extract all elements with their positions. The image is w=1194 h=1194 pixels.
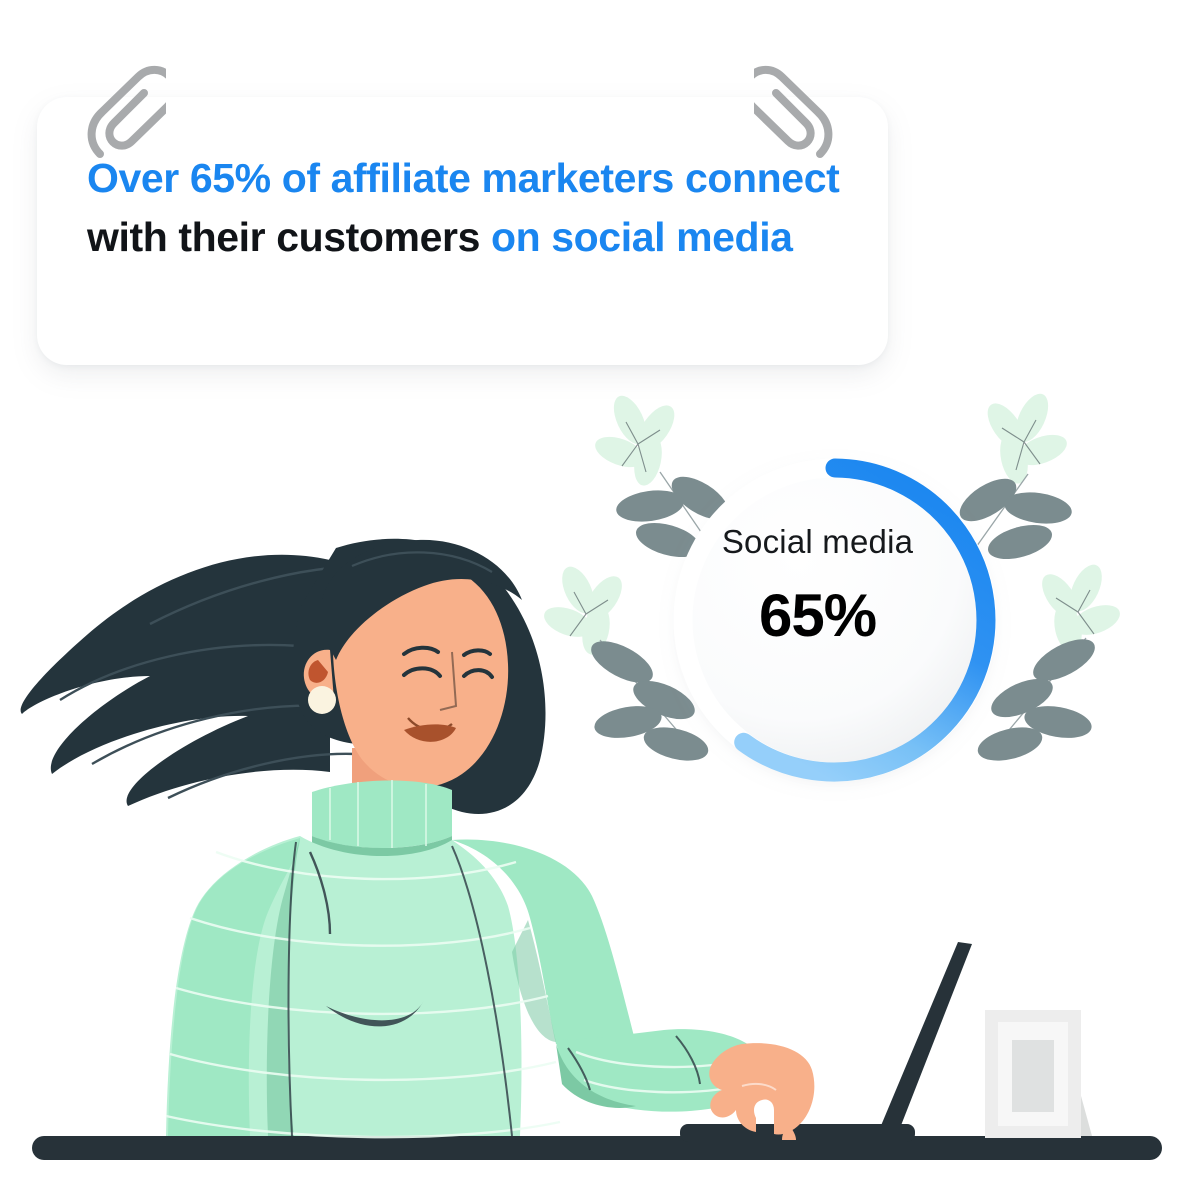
paperclip-icon (754, 58, 844, 173)
gauge-label-group: Social media 65% (685, 525, 950, 646)
gauge-title: Social media (685, 525, 950, 558)
infographic-canvas: Social media 65% Over 65% of affiliate m… (0, 0, 1194, 1194)
photo-frame-icon (985, 1010, 1092, 1138)
social-media-gauge: Social media 65% (555, 395, 1080, 825)
person-sweater (166, 780, 763, 1137)
gauge-value: 65% (685, 586, 950, 646)
headline-line1: Over 65% of affiliate marketers (87, 155, 674, 201)
headline-line2-dark: with their customers (87, 214, 480, 260)
headline-line3: on social media (491, 214, 793, 260)
page-title: Over 65% of affiliate marketers connect … (87, 149, 857, 268)
paperclip-icon (76, 58, 166, 173)
desk-surface (32, 1136, 1162, 1160)
